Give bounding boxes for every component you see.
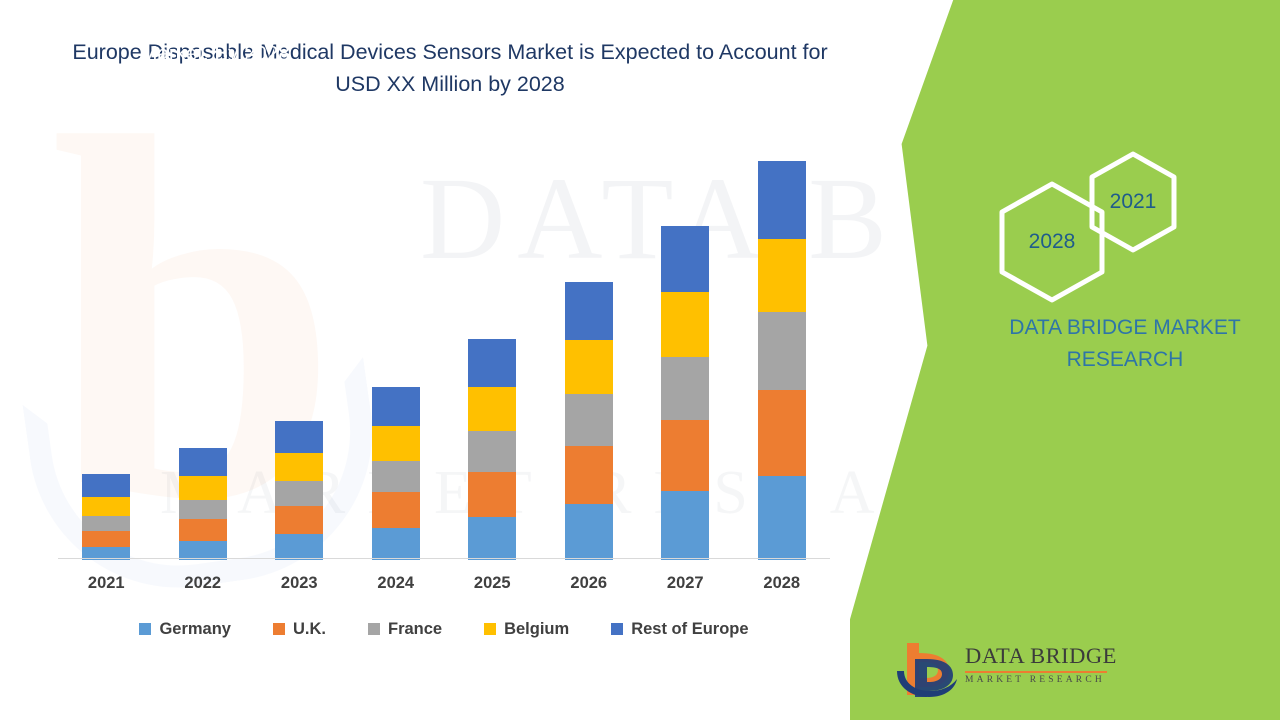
legend-label: Belgium [504, 620, 569, 639]
x-axis-label-2024: 2024 [348, 574, 444, 593]
bar-segment-germany [275, 534, 323, 560]
hexagon-end-year-label: 2028 [1029, 230, 1076, 254]
bar-column-2023 [251, 421, 347, 560]
bar-column-2027 [637, 226, 733, 560]
legend-swatch-icon [273, 623, 285, 635]
legend-swatch-icon [484, 623, 496, 635]
chart-panel: b DATA BRIDGE MARKET RESEARCH Europe Dis… [0, 0, 900, 720]
bar-segment-france [82, 516, 130, 531]
bar-segment-uk [758, 390, 806, 476]
bar-segment-uk [565, 446, 613, 504]
bar-segment-belgium [179, 476, 227, 500]
bar-segment-france [661, 357, 709, 420]
bar-stack [661, 226, 709, 560]
bar-segment-restofeurope [758, 161, 806, 239]
x-axis-label-2022: 2022 [155, 574, 251, 593]
bar-column-2022 [155, 448, 251, 560]
bar-column-2024 [348, 387, 444, 560]
legend-label: Rest of Europe [631, 620, 748, 639]
legend-swatch-icon [139, 623, 151, 635]
bar-column-2028 [734, 161, 830, 560]
bar-segment-france [758, 312, 806, 390]
logo-title: DATA BRIDGE [965, 643, 1110, 669]
x-axis-label-2025: 2025 [444, 574, 540, 593]
panel-title: Europe Disposable Medical Devices Sensor… [10, 6, 420, 70]
legend-item-uk[interactable]: U.K. [273, 620, 326, 639]
bar-segment-belgium [82, 497, 130, 515]
logo-subtitle: MARKET RESEARCH [965, 675, 1110, 685]
bar-segment-restofeurope [82, 474, 130, 498]
legend-label: France [388, 620, 442, 639]
bar-segment-uk [82, 531, 130, 547]
bar-segment-uk [372, 492, 420, 528]
bar-column-2026 [541, 282, 637, 560]
bar-segment-restofeurope [179, 448, 227, 476]
legend-label: U.K. [293, 620, 326, 639]
bar-column-2025 [444, 339, 540, 560]
bar-segment-uk [179, 519, 227, 541]
bar-segment-belgium [372, 426, 420, 461]
bar-segment-restofeurope [372, 387, 420, 426]
bar-segment-belgium [758, 239, 806, 312]
legend-item-germany[interactable]: Germany [139, 620, 231, 639]
logo-divider [965, 671, 1107, 673]
hexagon-start-year-label: 2021 [1110, 190, 1157, 214]
legend-item-belgium[interactable]: Belgium [484, 620, 569, 639]
bar-segment-germany [468, 517, 516, 560]
logo-wordmark: DATA BRIDGE MARKET RESEARCH [965, 643, 1110, 685]
legend-item-france[interactable]: France [368, 620, 442, 639]
bar-segment-france [179, 500, 227, 519]
x-axis-label-2026: 2026 [541, 574, 637, 593]
bar-segment-belgium [275, 453, 323, 481]
bar-segment-belgium [661, 292, 709, 357]
bar-segment-france [372, 461, 420, 492]
market-chart-infographic: b DATA BRIDGE MARKET RESEARCH Europe Dis… [0, 0, 1280, 720]
legend-swatch-icon [611, 623, 623, 635]
hexagon-end-year: 2028 [994, 179, 1110, 305]
bar-segment-germany [565, 504, 613, 560]
bar-segment-france [468, 431, 516, 472]
bar-stack [468, 339, 516, 560]
legend-item-restofeurope[interactable]: Rest of Europe [611, 620, 748, 639]
x-axis-label-2028: 2028 [734, 574, 830, 593]
x-axis-line [58, 558, 830, 559]
bar-column-2021 [58, 474, 154, 560]
bar-segment-france [565, 394, 613, 446]
x-axis-label-2023: 2023 [251, 574, 347, 593]
bar-segment-restofeurope [565, 282, 613, 340]
bar-segment-restofeurope [661, 226, 709, 293]
bar-stack [565, 282, 613, 560]
bar-stack [275, 421, 323, 560]
bar-segment-uk [275, 506, 323, 534]
x-axis-labels: 20212022202320242025202620272028 [58, 574, 830, 600]
chart-legend: GermanyU.K.FranceBelgiumRest of Europe [58, 616, 830, 642]
plot-area [58, 150, 830, 560]
x-axis-label-2027: 2027 [637, 574, 733, 593]
data-bridge-logo-icon [893, 637, 963, 703]
bar-segment-belgium [565, 340, 613, 394]
legend-swatch-icon [368, 623, 380, 635]
bar-segment-uk [468, 472, 516, 517]
bar-stack [179, 448, 227, 560]
bar-segment-germany [661, 491, 709, 560]
company-logo: DATA BRIDGE MARKET RESEARCH [893, 637, 1108, 703]
bar-segment-restofeurope [468, 339, 516, 388]
bar-segment-belgium [468, 387, 516, 430]
bar-segment-germany [372, 528, 420, 560]
bar-segment-france [275, 481, 323, 506]
bar-segment-uk [661, 420, 709, 491]
bar-segment-restofeurope [275, 421, 323, 453]
bar-segment-germany [758, 476, 806, 560]
legend-label: Germany [159, 620, 231, 639]
bar-stack [82, 474, 130, 560]
bar-stack [372, 387, 420, 560]
bar-stack [758, 161, 806, 560]
x-axis-label-2021: 2021 [58, 574, 154, 593]
brand-name: DATA BRIDGE MARKET RESEARCH [960, 312, 1280, 376]
